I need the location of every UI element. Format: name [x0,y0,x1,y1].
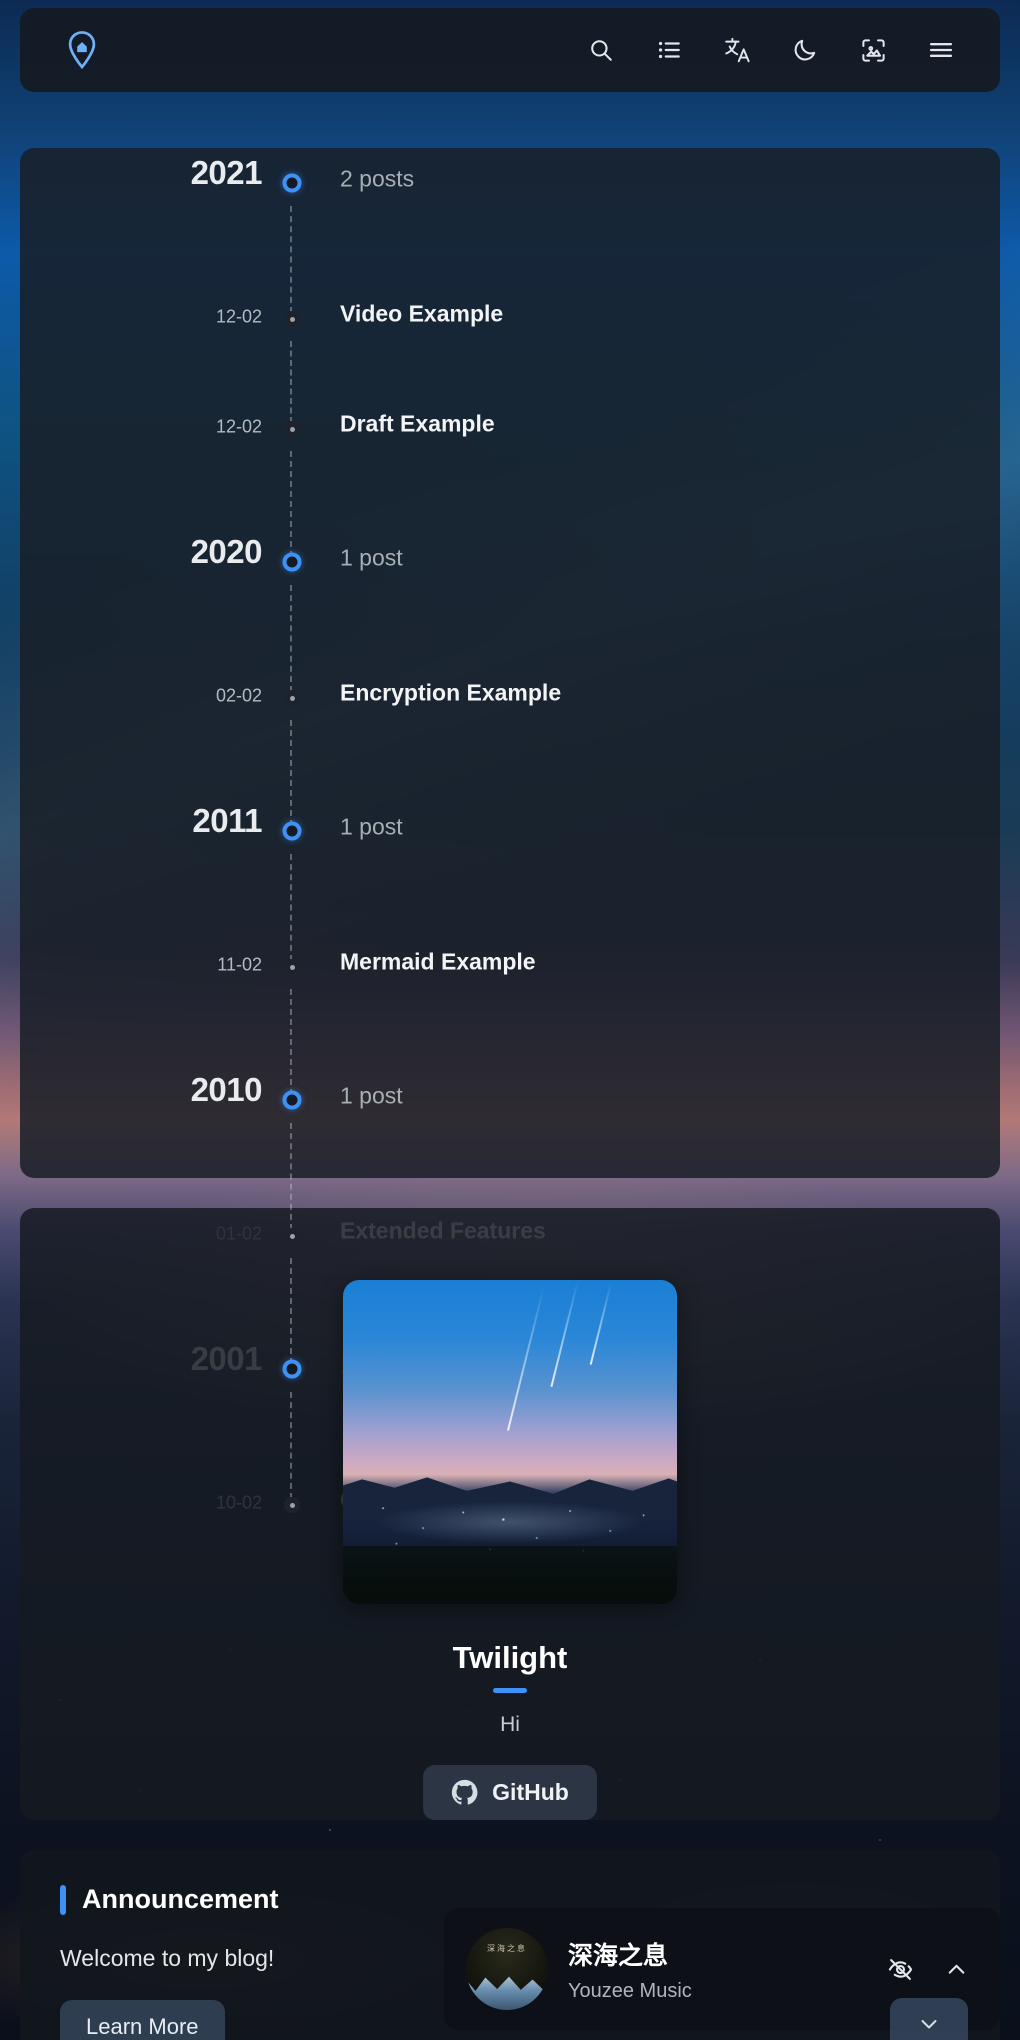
timeline-year-dot [283,821,302,840]
navbar [20,8,1000,92]
chevron-down-icon[interactable] [890,1998,968,2040]
menu-icon[interactable] [924,33,958,67]
profile-bio: Hi [500,1713,520,1737]
timeline-year-dot [283,1090,302,1109]
map-pin-home-icon[interactable] [60,28,104,72]
timeline-card: 20212 posts12-02Video Example12-02Draft … [20,148,1000,1178]
learn-more-button[interactable]: Learn More [60,2000,225,2040]
timeline-post-dot [284,1228,300,1244]
timeline-year-dot [283,1359,302,1378]
music-metadata: 深海之息 Youzee Music [568,1936,862,2003]
github-icon [451,1779,478,1806]
timeline-post-title[interactable]: Mermaid Example [292,948,536,975]
timeline-post-count: 1 post [292,544,403,571]
timeline-post-dot [284,421,300,437]
profile-name: Twilight [453,1640,568,1676]
timeline-post-date: 12-02 [62,416,292,437]
timeline-connector [290,1123,292,1230]
timeline-post-dot [284,690,300,706]
eye-slash-icon[interactable] [882,1951,918,1987]
timeline-post-count: 1 post [292,813,403,840]
album-cover[interactable]: 深海之息 [466,1928,548,2010]
timeline-post-date: 12-02 [62,306,292,327]
timeline-post-count: 1 post [292,1082,403,1109]
timeline-connector [290,720,292,826]
profile-card: Twilight Hi GitHub [20,1208,1000,1820]
timeline-year-label: 2011 [62,802,292,840]
album-cover-text: 深海之息 [466,1943,548,1954]
image-icon[interactable] [856,33,890,67]
timeline-connector [290,585,292,692]
avatar-foreground-grass [343,1546,677,1604]
timeline-post-dot [284,311,300,327]
timeline-post-dot [284,1497,300,1513]
timeline-post-title[interactable]: Encryption Example [292,679,561,706]
moon-icon[interactable] [788,33,822,67]
timeline-connector [290,1258,292,1364]
timeline-connector [290,206,292,313]
translate-icon[interactable] [720,33,754,67]
timeline-post-title[interactable]: Draft Example [292,410,495,437]
music-artist-name: Youzee Music [568,1980,862,2003]
timeline-year-label: 2010 [62,1071,292,1109]
timeline-axis [290,148,292,1543]
timeline-post-date: 11-02 [62,954,292,975]
timeline-post-count: 2 posts [292,165,414,192]
navbar-icon-group [584,33,958,67]
timeline-post-date: 02-02 [62,685,292,706]
github-button[interactable]: GitHub [423,1765,597,1820]
timeline-year-dot [283,173,302,192]
timeline-year-dot [283,552,302,571]
search-icon[interactable] [584,33,618,67]
timeline-connector [290,341,292,423]
timeline-connector [290,854,292,961]
timeline-year-label: 2021 [62,154,292,192]
timeline-year-label: 2020 [62,533,292,571]
timeline-post-dot [284,959,300,975]
chevron-up-icon[interactable] [938,1951,974,1987]
timeline-connector [290,1392,292,1499]
timeline-post-title[interactable]: Video Example [292,300,503,327]
avatar [343,1280,677,1604]
announcement-title: Announcement [82,1884,279,1915]
list-icon[interactable] [652,33,686,67]
announcement-accent-bar [60,1885,66,1915]
github-button-label: GitHub [492,1779,569,1806]
music-song-title: 深海之息 [568,1936,862,1972]
timeline-connector [290,451,292,557]
timeline-connector [290,989,292,1095]
profile-divider [493,1688,527,1693]
page-root: 20212 posts12-02Video Example12-02Draft … [0,0,1020,2040]
